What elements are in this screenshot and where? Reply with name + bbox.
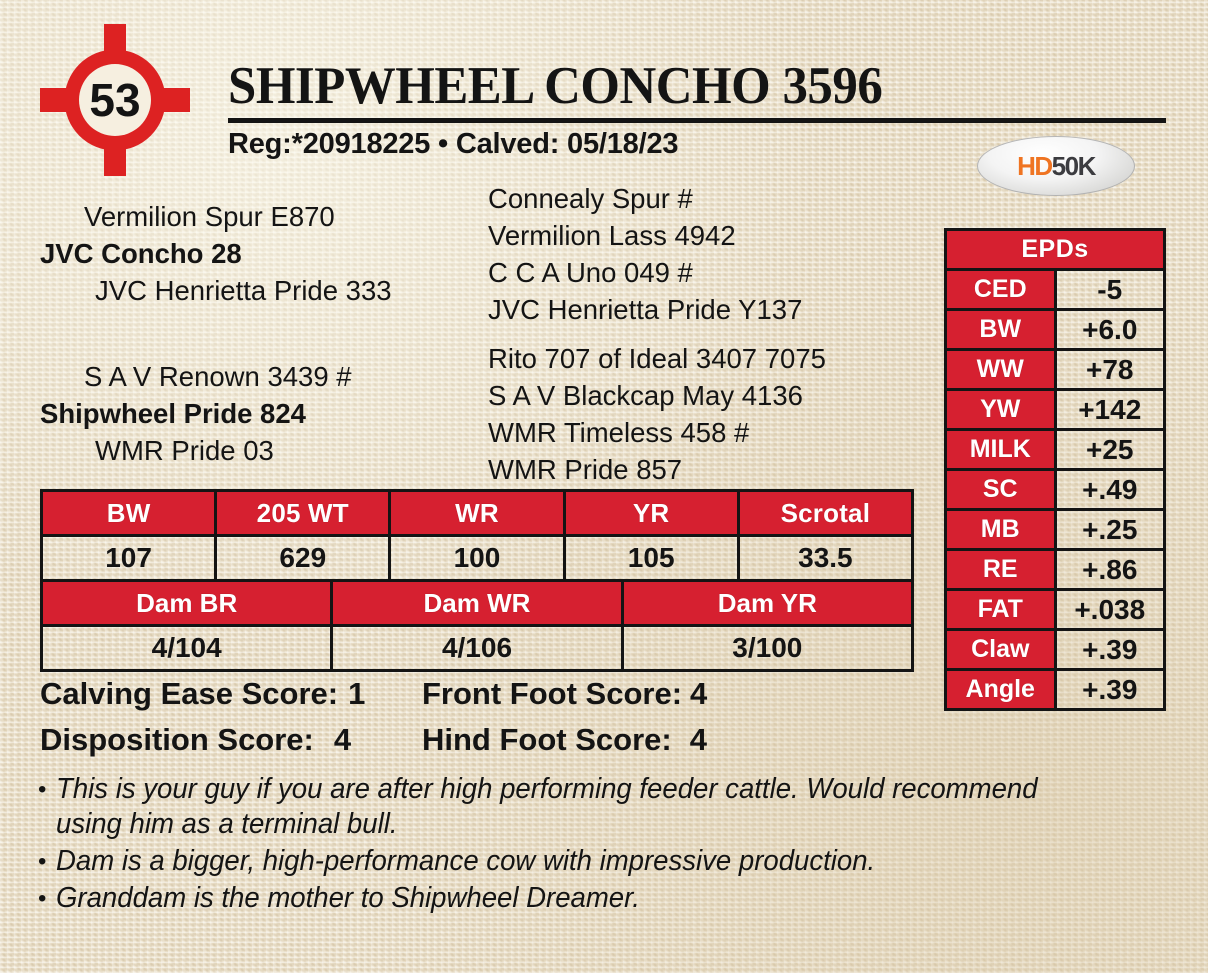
table-row-headers: BW 205 WT WR YR Scrotal	[42, 491, 913, 536]
lot-number: 53	[89, 74, 140, 126]
epd-label-milk: MILK	[946, 430, 1056, 470]
list-item: • This is your guy if you are after high…	[38, 772, 1158, 842]
pedigree-entry: WMR Pride 857	[488, 451, 826, 488]
pedigree-dam-grandparents: Rito 707 of Ideal 3407 7075 S A V Blackc…	[488, 340, 826, 488]
table-row: 4/104 4/106 3/100	[42, 626, 913, 671]
pedigree-entry-sire: JVC Concho 28	[40, 235, 392, 272]
column-header-yr: YR	[564, 491, 738, 536]
cell-wr: 100	[390, 536, 564, 581]
dam-ratio-table: Dam BR Dam WR Dam YR 4/104 4/106 3/100	[40, 579, 914, 672]
pedigree-entry: Rito 707 of Ideal 3407 7075	[488, 340, 826, 377]
list-item: • Dam is a bigger, high-performance cow …	[38, 844, 1158, 879]
cell-dam-yr: 3/100	[622, 626, 912, 671]
pedigree-sire-grandparents: Connealy Spur # Vermilion Lass 4942 C C …	[488, 180, 802, 328]
epd-value-fat: +.038	[1055, 590, 1165, 630]
disposition-value: 4	[324, 722, 351, 758]
pedigree-entry: C C A Uno 049 #	[488, 254, 802, 291]
hd50k-badge-icon: HD50K	[977, 136, 1135, 196]
epd-row-ww: WW +78	[946, 350, 1165, 390]
hd50k-suffix: 50K	[1052, 151, 1095, 181]
epd-title-row: EPDs	[946, 230, 1165, 270]
column-header-bw: BW	[42, 491, 216, 536]
hind-foot-label: Hind Foot Score:	[422, 722, 672, 758]
front-foot-value: 4	[690, 676, 707, 712]
epd-label-claw: Claw	[946, 630, 1056, 670]
epd-label-ced: CED	[946, 270, 1056, 310]
epd-label-angle: Angle	[946, 670, 1056, 710]
column-header-dam-wr: Dam WR	[332, 581, 622, 626]
epd-label-ww: WW	[946, 350, 1056, 390]
cell-scrotal: 33.5	[738, 536, 912, 581]
pedigree-entry: WMR Timeless 458 #	[488, 414, 826, 451]
epd-row-ced: CED -5	[946, 270, 1165, 310]
pedigree-sire-column: Vermilion Spur E870 JVC Concho 28 JVC He…	[40, 198, 392, 309]
hd50k-prefix: HD	[1017, 151, 1052, 181]
pedigree-entry: S A V Renown 3439 #	[40, 358, 352, 395]
title-divider	[228, 118, 1166, 123]
epd-label-yw: YW	[946, 390, 1056, 430]
pedigree-entry: JVC Henrietta Pride 333	[40, 272, 392, 309]
epd-row-yw: YW +142	[946, 390, 1165, 430]
bullet-icon: •	[38, 844, 56, 879]
pedigree-entry-dam: Shipwheel Pride 824	[40, 395, 352, 432]
score-row-calving-front: Calving Ease Score: 1 Front Foot Score: …	[40, 676, 920, 722]
pedigree-entry: Vermilion Spur E870	[40, 198, 392, 235]
hind-foot-score: Hind Foot Score: 4	[380, 722, 707, 758]
epd-row-sc: SC +.49	[946, 470, 1165, 510]
epd-table-title: EPDs	[946, 230, 1165, 270]
cell-bw: 107	[42, 536, 216, 581]
bullet-icon: •	[38, 881, 56, 916]
column-header-dam-yr: Dam YR	[622, 581, 912, 626]
cell-dam-wr: 4/106	[332, 626, 622, 671]
epd-row-claw: Claw +.39	[946, 630, 1165, 670]
epd-value-mb: +.25	[1055, 510, 1165, 550]
epd-value-sc: +.49	[1055, 470, 1165, 510]
pedigree-entry: Connealy Spur #	[488, 180, 802, 217]
epd-row-milk: MILK +25	[946, 430, 1165, 470]
cell-yr: 105	[564, 536, 738, 581]
epd-value-ced: -5	[1055, 270, 1165, 310]
pedigree-entry: WMR Pride 03	[40, 432, 352, 469]
note-text: Granddam is the mother to Shipwheel Drea…	[56, 881, 1103, 916]
epd-label-bw: BW	[946, 310, 1056, 350]
epd-value-bw: +6.0	[1055, 310, 1165, 350]
table-row: 107 629 100 105 33.5	[42, 536, 913, 581]
pedigree-entry: S A V Blackcap May 4136	[488, 377, 826, 414]
column-header-scrotal: Scrotal	[738, 491, 912, 536]
pedigree-dam-column: S A V Renown 3439 # Shipwheel Pride 824 …	[40, 358, 352, 469]
calving-ease-value: 1	[348, 676, 365, 712]
list-item: • Granddam is the mother to Shipwheel Dr…	[38, 881, 1158, 916]
column-header-dam-br: Dam BR	[42, 581, 332, 626]
epd-table: EPDs CED -5 BW +6.0 WW +78 YW +142 MILK …	[944, 228, 1166, 711]
epd-label-fat: FAT	[946, 590, 1056, 630]
front-foot-label: Front Foot Score:	[422, 676, 682, 712]
cell-dam-br: 4/104	[42, 626, 332, 671]
pedigree-entry: Vermilion Lass 4942	[488, 217, 802, 254]
epd-row-bw: BW +6.0	[946, 310, 1165, 350]
calving-ease-label: Calving Ease Score:	[40, 676, 338, 712]
pedigree-entry: JVC Henrietta Pride Y137	[488, 291, 802, 328]
score-row-disposition-hind: Disposition Score: 4 Hind Foot Score: 4	[40, 722, 920, 768]
notes-section: • This is your guy if you are after high…	[38, 772, 1158, 918]
epd-label-sc: SC	[946, 470, 1056, 510]
scores-section: Calving Ease Score: 1 Front Foot Score: …	[40, 676, 920, 768]
bullet-icon: •	[38, 772, 56, 842]
disposition-label: Disposition Score:	[40, 722, 314, 758]
column-header-205wt: 205 WT	[216, 491, 390, 536]
note-text: This is your guy if you are after high p…	[56, 772, 1103, 842]
note-text: Dam is a bigger, high-performance cow wi…	[56, 844, 1103, 879]
epd-value-milk: +25	[1055, 430, 1165, 470]
performance-table: BW 205 WT WR YR Scrotal 107 629 100 105 …	[40, 489, 914, 582]
epd-value-ww: +78	[1055, 350, 1165, 390]
epd-label-mb: MB	[946, 510, 1056, 550]
disposition-score: Disposition Score: 4	[40, 722, 380, 758]
epd-value-claw: +.39	[1055, 630, 1165, 670]
epd-value-angle: +.39	[1055, 670, 1165, 710]
epd-row-re: RE +.86	[946, 550, 1165, 590]
column-header-wr: WR	[390, 491, 564, 536]
table-row-headers: Dam BR Dam WR Dam YR	[42, 581, 913, 626]
epd-value-yw: +142	[1055, 390, 1165, 430]
epd-row-angle: Angle +.39	[946, 670, 1165, 710]
calving-ease-score: Calving Ease Score: 1	[40, 676, 380, 712]
epd-value-re: +.86	[1055, 550, 1165, 590]
epd-label-re: RE	[946, 550, 1056, 590]
page-title: SHIPWHEEL CONCHO 3596	[228, 60, 1130, 113]
epd-row-mb: MB +.25	[946, 510, 1165, 550]
front-foot-score: Front Foot Score: 4	[380, 676, 707, 712]
cell-205wt: 629	[216, 536, 390, 581]
crosshair-brand-icon: 53	[40, 24, 190, 176]
epd-row-fat: FAT +.038	[946, 590, 1165, 630]
hind-foot-value: 4	[680, 722, 707, 758]
